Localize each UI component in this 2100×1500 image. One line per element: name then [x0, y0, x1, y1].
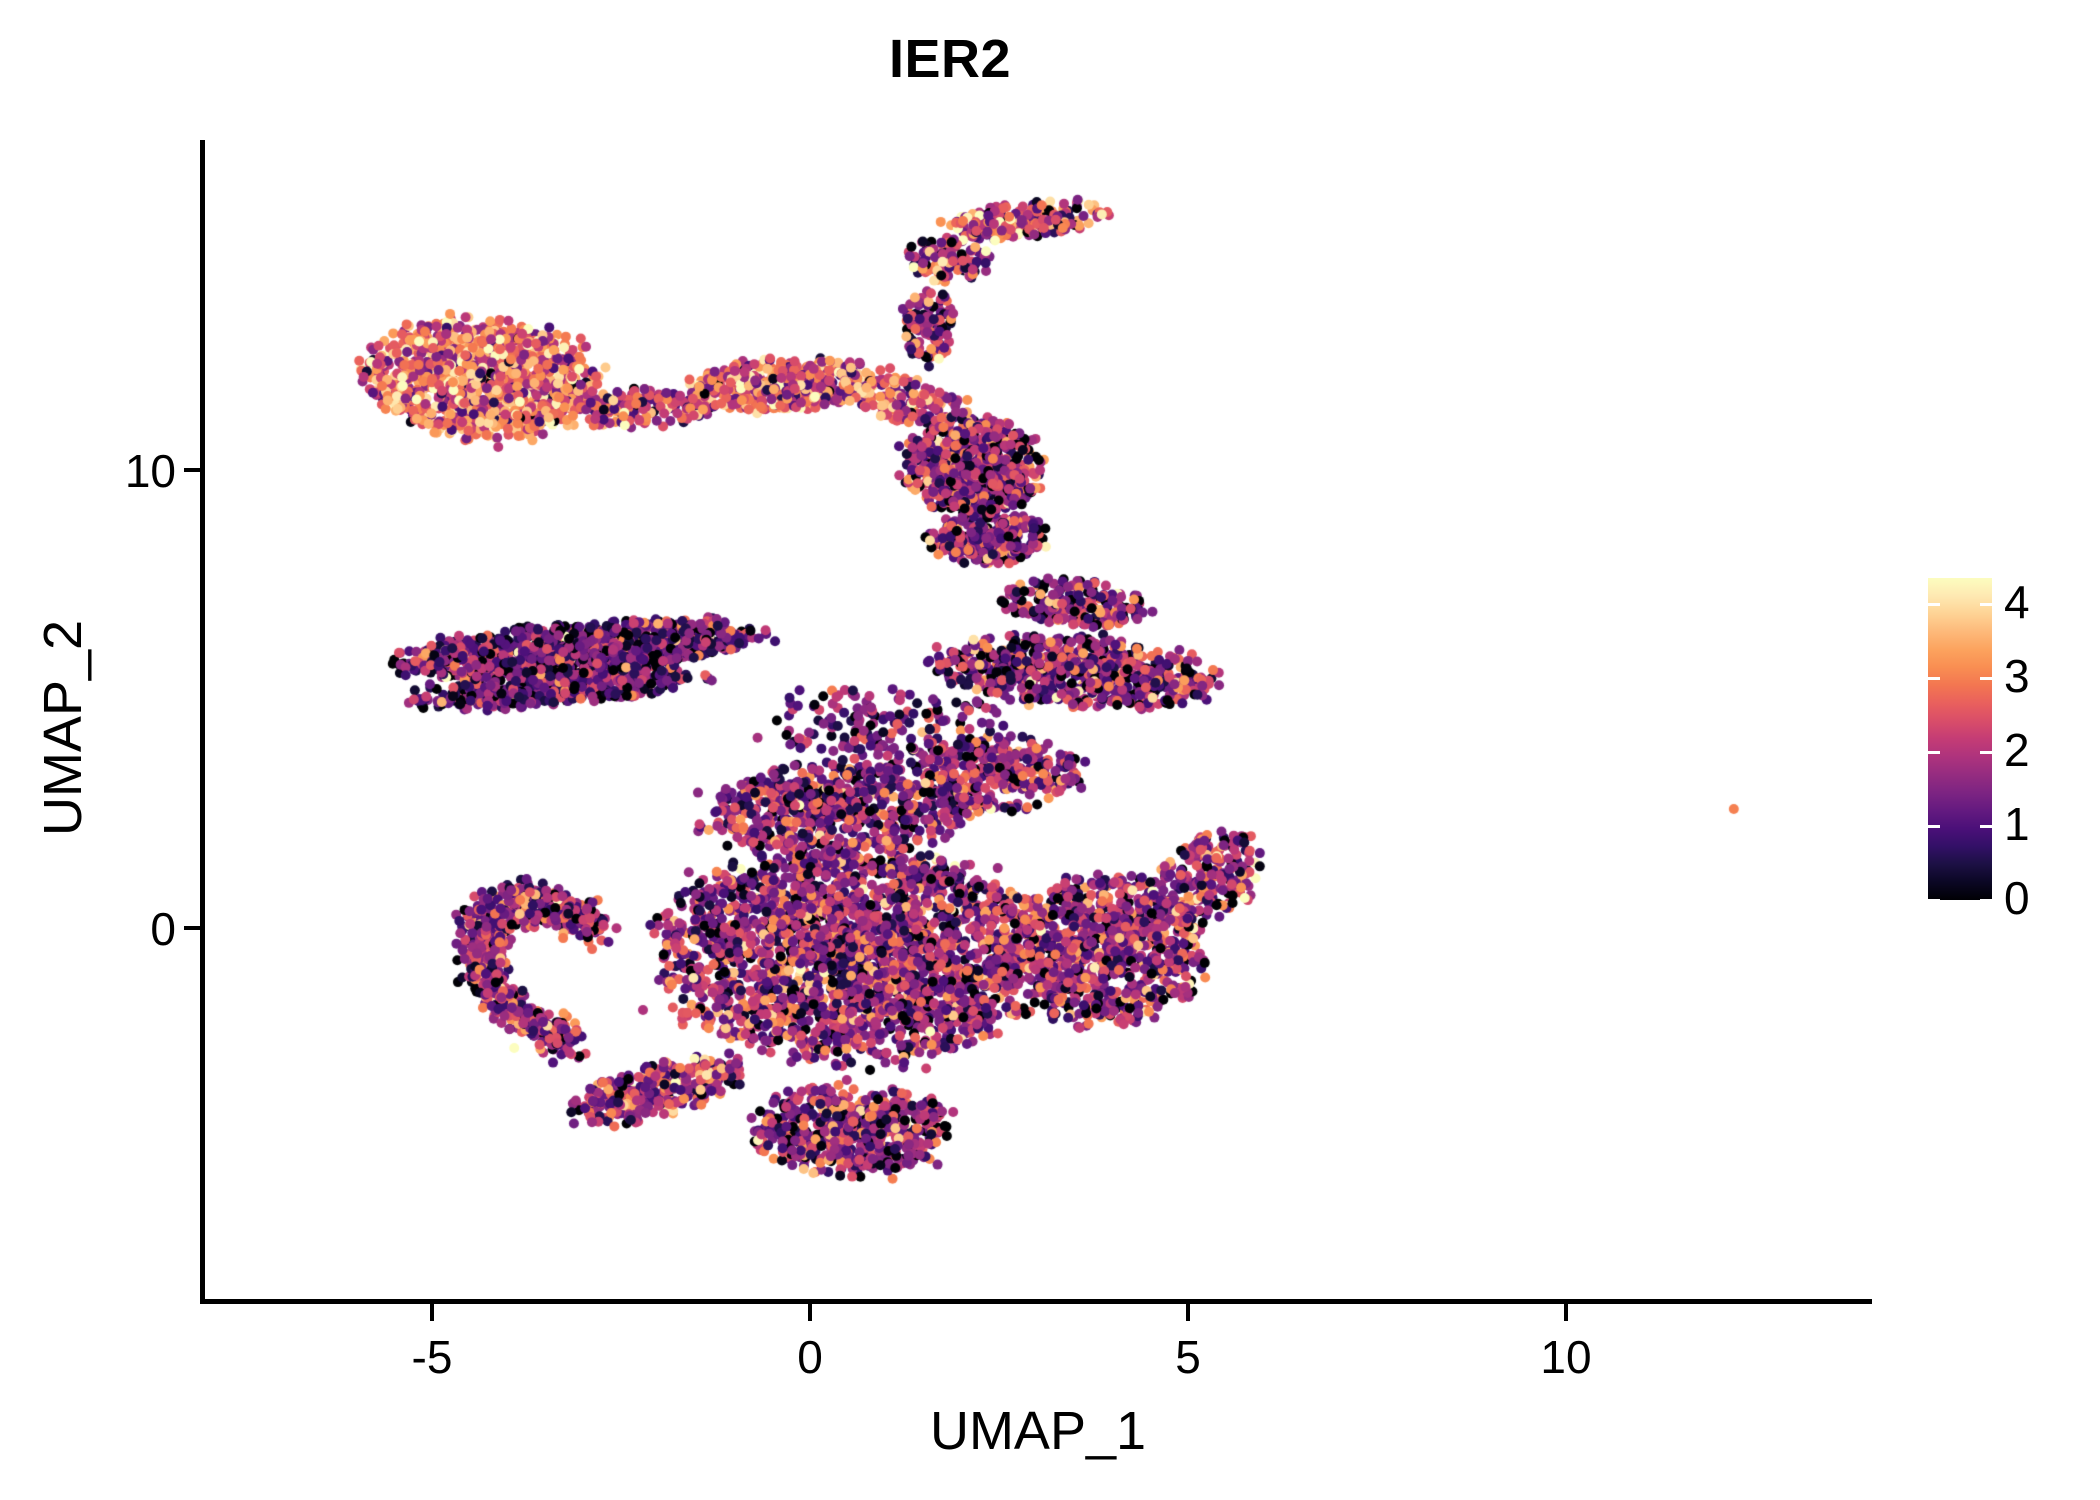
x-tick-mark: [808, 1304, 812, 1321]
x-tick-label: 10: [1486, 1330, 1646, 1384]
x-axis-title: UMAP_1: [204, 1400, 1872, 1462]
x-tick-label: 5: [1108, 1330, 1268, 1384]
colorbar-tick-mark: [1980, 603, 1992, 606]
plot-panel: [204, 140, 1872, 1302]
y-tick-mark: [184, 468, 200, 472]
colorbar-tick-mark: [1980, 825, 1992, 828]
colorbar-tick-mark: [1928, 751, 1940, 754]
colorbar-tick-mark: [1980, 677, 1992, 680]
colorbar-tick-label: 3: [2004, 653, 2030, 699]
y-axis-line: [200, 140, 205, 1304]
x-axis-line: [200, 1299, 1872, 1304]
colorbar-legend: 01234: [1920, 570, 2090, 920]
colorbar-tick-mark: [1928, 677, 1940, 680]
umap-feature-plot: IER2 010 -50510 UMAP_1 UMAP_2 01234: [0, 0, 2100, 1500]
x-tick-label: 0: [730, 1330, 890, 1384]
scatter-plot-canvas: [204, 140, 1872, 1302]
colorbar-tick-mark: [1928, 825, 1940, 828]
x-tick-mark: [1564, 1304, 1568, 1321]
colorbar-tick-label: 1: [2004, 801, 2030, 847]
colorbar-tick-mark: [1980, 751, 1992, 754]
colorbar-tick-mark: [1928, 899, 1940, 902]
colorbar-tick-mark: [1928, 603, 1940, 606]
colorbar-tick-label: 2: [2004, 727, 2030, 773]
page-title: IER2: [0, 28, 1900, 90]
y-tick-mark: [184, 926, 200, 930]
y-axis-title: UMAP_2: [32, 478, 94, 978]
colorbar-gradient: [1928, 578, 1992, 900]
x-tick-mark: [430, 1304, 434, 1321]
colorbar-tick-mark: [1980, 899, 1992, 902]
x-tick-label: -5: [352, 1330, 512, 1384]
colorbar-tick-label: 4: [2004, 579, 2030, 625]
colorbar-tick-label: 0: [2004, 875, 2030, 921]
x-tick-mark: [1186, 1304, 1190, 1321]
